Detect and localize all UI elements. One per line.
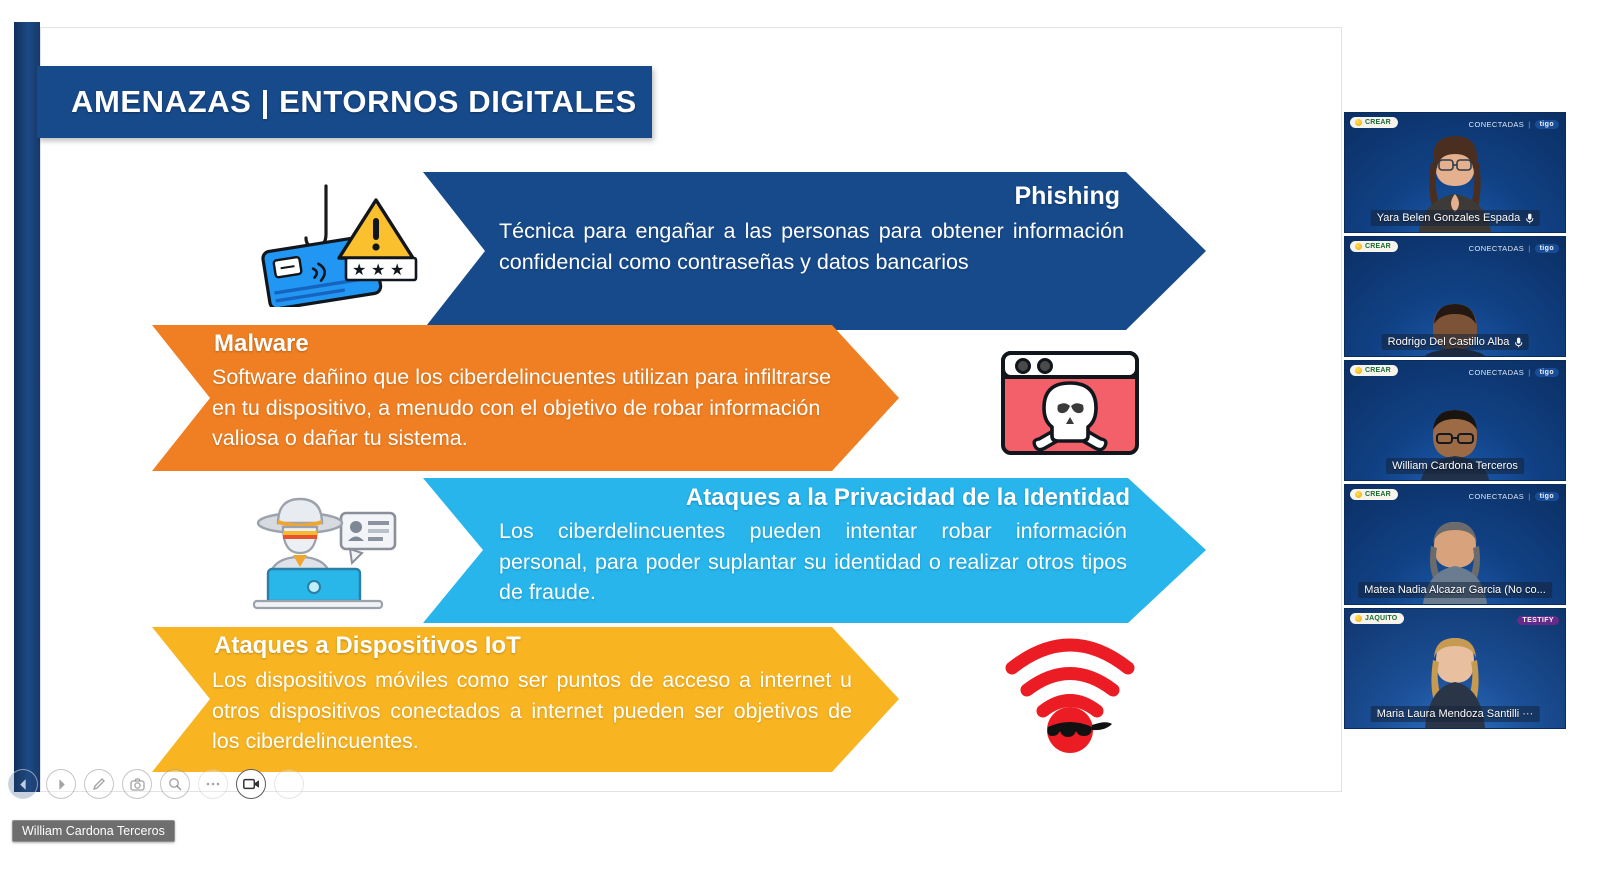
participant-nameplate: Matea Nadia Alcazar Garcia (No co... [1358, 582, 1552, 598]
malware-skull-window-icon [995, 347, 1145, 459]
next-slide-button[interactable] [46, 769, 76, 799]
brand-tag: tigo [1535, 492, 1559, 501]
band-iot: Ataques a Dispositivos IoT Los dispositi… [152, 627, 899, 772]
presenter-name-text: William Cardona Terceros [22, 824, 165, 838]
brand-tag: tigo [1535, 120, 1559, 129]
participant-tile[interactable]: CREAR CONECTADAS | tigo Yara Belen Gonza… [1344, 112, 1566, 233]
brand-dot-icon [1355, 243, 1362, 250]
video-camera-icon [243, 778, 260, 790]
participant-name: William Cardona Terceros [1392, 460, 1518, 472]
brand-right-text: CONECTADAS [1469, 492, 1525, 501]
slide-title-bar: AMENAZAS | ENTORNOS DIGITALES [37, 66, 652, 138]
right-arrow-icon [55, 778, 68, 791]
end-presentation-button[interactable] [274, 769, 304, 799]
participant-name: Yara Belen Gonzales Espada [1377, 212, 1521, 224]
brand-logo-left: CREAR [1350, 117, 1398, 128]
brand-logo-left: JAQUITO [1350, 613, 1404, 624]
brand-left-text: CREAR [1365, 119, 1391, 126]
brand-left-text: CREAR [1365, 243, 1391, 250]
participant-tile[interactable]: CREAR CONECTADAS | tigo Rodrigo Del Cast… [1344, 236, 1566, 357]
brand-left-text: CREAR [1365, 491, 1391, 498]
blank-icon [283, 778, 295, 790]
svg-text:★: ★ [390, 260, 404, 279]
participant-nameplate: Maria Laura Mendoza Santilli ··· [1371, 706, 1540, 722]
brand-dot-icon [1355, 367, 1362, 374]
brand-dot-icon [1355, 119, 1362, 126]
participant-nameplate: William Cardona Terceros [1386, 458, 1524, 474]
brand-logo-right: CONECTADAS | tigo [1469, 244, 1559, 253]
brand-logo-left: CREAR [1350, 241, 1398, 252]
previous-slide-button[interactable] [8, 769, 38, 799]
zoom-button[interactable] [160, 769, 190, 799]
participant-nameplate: Yara Belen Gonzales Espada [1371, 210, 1540, 226]
camera-icon [130, 778, 145, 791]
brand-separator: | [1528, 120, 1530, 129]
screenshot-button[interactable] [122, 769, 152, 799]
participant-tile[interactable]: CREAR CONECTADAS | tigo William Cardona … [1344, 360, 1566, 481]
svg-text:★: ★ [352, 260, 366, 279]
band-privacidad-label: Ataques a la Privacidad de la Identidad [686, 484, 1130, 512]
brand-tag: tigo [1535, 244, 1559, 253]
brand-dot-icon [1355, 615, 1362, 622]
more-options-button[interactable] [198, 769, 228, 799]
presenter-toolbar[interactable] [8, 765, 328, 803]
brand-right-text: CONECTADAS [1469, 368, 1525, 377]
brand-logo-left: CREAR [1350, 489, 1398, 500]
band-phishing: Phishing Técnica para engañar a las pers… [423, 172, 1206, 330]
band-malware-body: Software dañino que los ciberdelincuente… [212, 362, 854, 454]
brand-dot-icon [1355, 491, 1362, 498]
participant-name: Matea Nadia Alcazar Garcia (No co... [1364, 584, 1546, 596]
pen-tool-button[interactable] [84, 769, 114, 799]
brand-tag: TESTIFY [1517, 616, 1559, 625]
brand-left-text: CREAR [1365, 367, 1391, 374]
brand-logo-right: CONECTADAS | tigo [1469, 120, 1559, 129]
pen-icon [92, 777, 106, 791]
brand-separator: | [1528, 244, 1530, 253]
brand-logo-left: CREAR [1350, 365, 1398, 376]
band-phishing-label: Phishing [1014, 182, 1120, 211]
svg-text:★: ★ [371, 260, 385, 279]
hacker-laptop-id-icon [238, 487, 398, 611]
magnifier-icon [168, 777, 182, 791]
band-malware: Malware Software dañino que los ciberdel… [152, 325, 899, 471]
phishing-hook-card-icon: ★★★ [258, 182, 423, 307]
band-privacidad: Ataques a la Privacidad de la Identidad … [423, 478, 1206, 623]
brand-logo-right: CONECTADAS | tigo [1469, 368, 1559, 377]
band-malware-label: Malware [214, 330, 309, 358]
brand-right-text: CONECTADAS [1469, 120, 1525, 129]
brand-separator: | [1528, 492, 1530, 501]
page-left-margin [0, 0, 14, 871]
presenter-video-button[interactable] [236, 769, 266, 799]
participant-name: Rodrigo Del Castillo Alba [1388, 336, 1510, 348]
participant-tile[interactable]: CREAR CONECTADAS | tigo Matea Nadia Alca… [1344, 484, 1566, 605]
presenter-name-chip: William Cardona Terceros [12, 820, 175, 842]
wifi-masked-thief-icon [1000, 630, 1140, 755]
brand-logo-right: CONECTADAS | tigo [1469, 492, 1559, 501]
ellipsis-icon [206, 782, 220, 786]
brand-right-text: CONECTADAS [1469, 244, 1525, 253]
band-iot-label: Ataques a Dispositivos IoT [214, 632, 521, 660]
participant-nameplate: Rodrigo Del Castillo Alba [1382, 334, 1529, 350]
participant-name: Maria Laura Mendoza Santilli ··· [1377, 708, 1534, 720]
page-title: AMENAZAS | ENTORNOS DIGITALES [37, 84, 637, 120]
band-privacidad-body: Los ciberdelincuentes pueden intentar ro… [499, 516, 1127, 608]
brand-tag: tigo [1535, 368, 1559, 377]
band-phishing-body: Técnica para engañar a las personas para… [499, 216, 1124, 277]
microphone-icon [1525, 213, 1533, 224]
brand-separator: | [1528, 368, 1530, 377]
brand-left-text: JAQUITO [1365, 615, 1397, 622]
participant-tile[interactable]: JAQUITO TESTIFY Maria Laura Mendoza Sant… [1344, 608, 1566, 729]
brand-logo-right: TESTIFY [1517, 616, 1559, 625]
participant-filmstrip[interactable]: CREAR CONECTADAS | tigo Yara Belen Gonza… [1344, 112, 1566, 737]
band-iot-body: Los dispositivos móviles como ser puntos… [212, 665, 852, 757]
left-arrow-icon [17, 778, 30, 791]
microphone-icon [1514, 337, 1522, 348]
presentation-screen: AMENAZAS | ENTORNOS DIGITALES Phishing T… [0, 0, 1600, 871]
